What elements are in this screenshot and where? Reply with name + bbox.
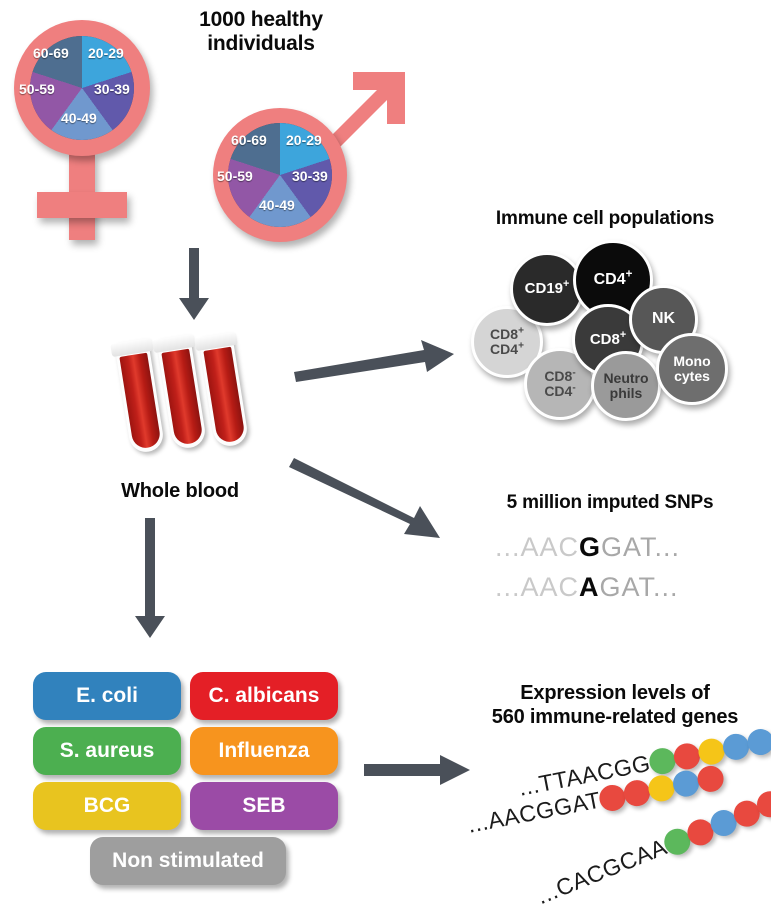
expression-strand-group: ...TTAACGG ...AACGGAT ...CACGCAA: [0, 0, 771, 922]
expression-bead: [695, 763, 725, 793]
expression-bead: [671, 768, 701, 798]
expression-bead: [622, 777, 652, 807]
strand-sequence: ...CACGCAA: [533, 833, 671, 910]
expression-bead: [646, 773, 676, 803]
expression-bead: [745, 726, 771, 756]
figure-canvas: 20-29 30-39 40-49 50-59 60-69 20-29 30-3…: [0, 0, 771, 922]
expression-bead: [720, 731, 750, 761]
expression-bead: [696, 736, 726, 766]
